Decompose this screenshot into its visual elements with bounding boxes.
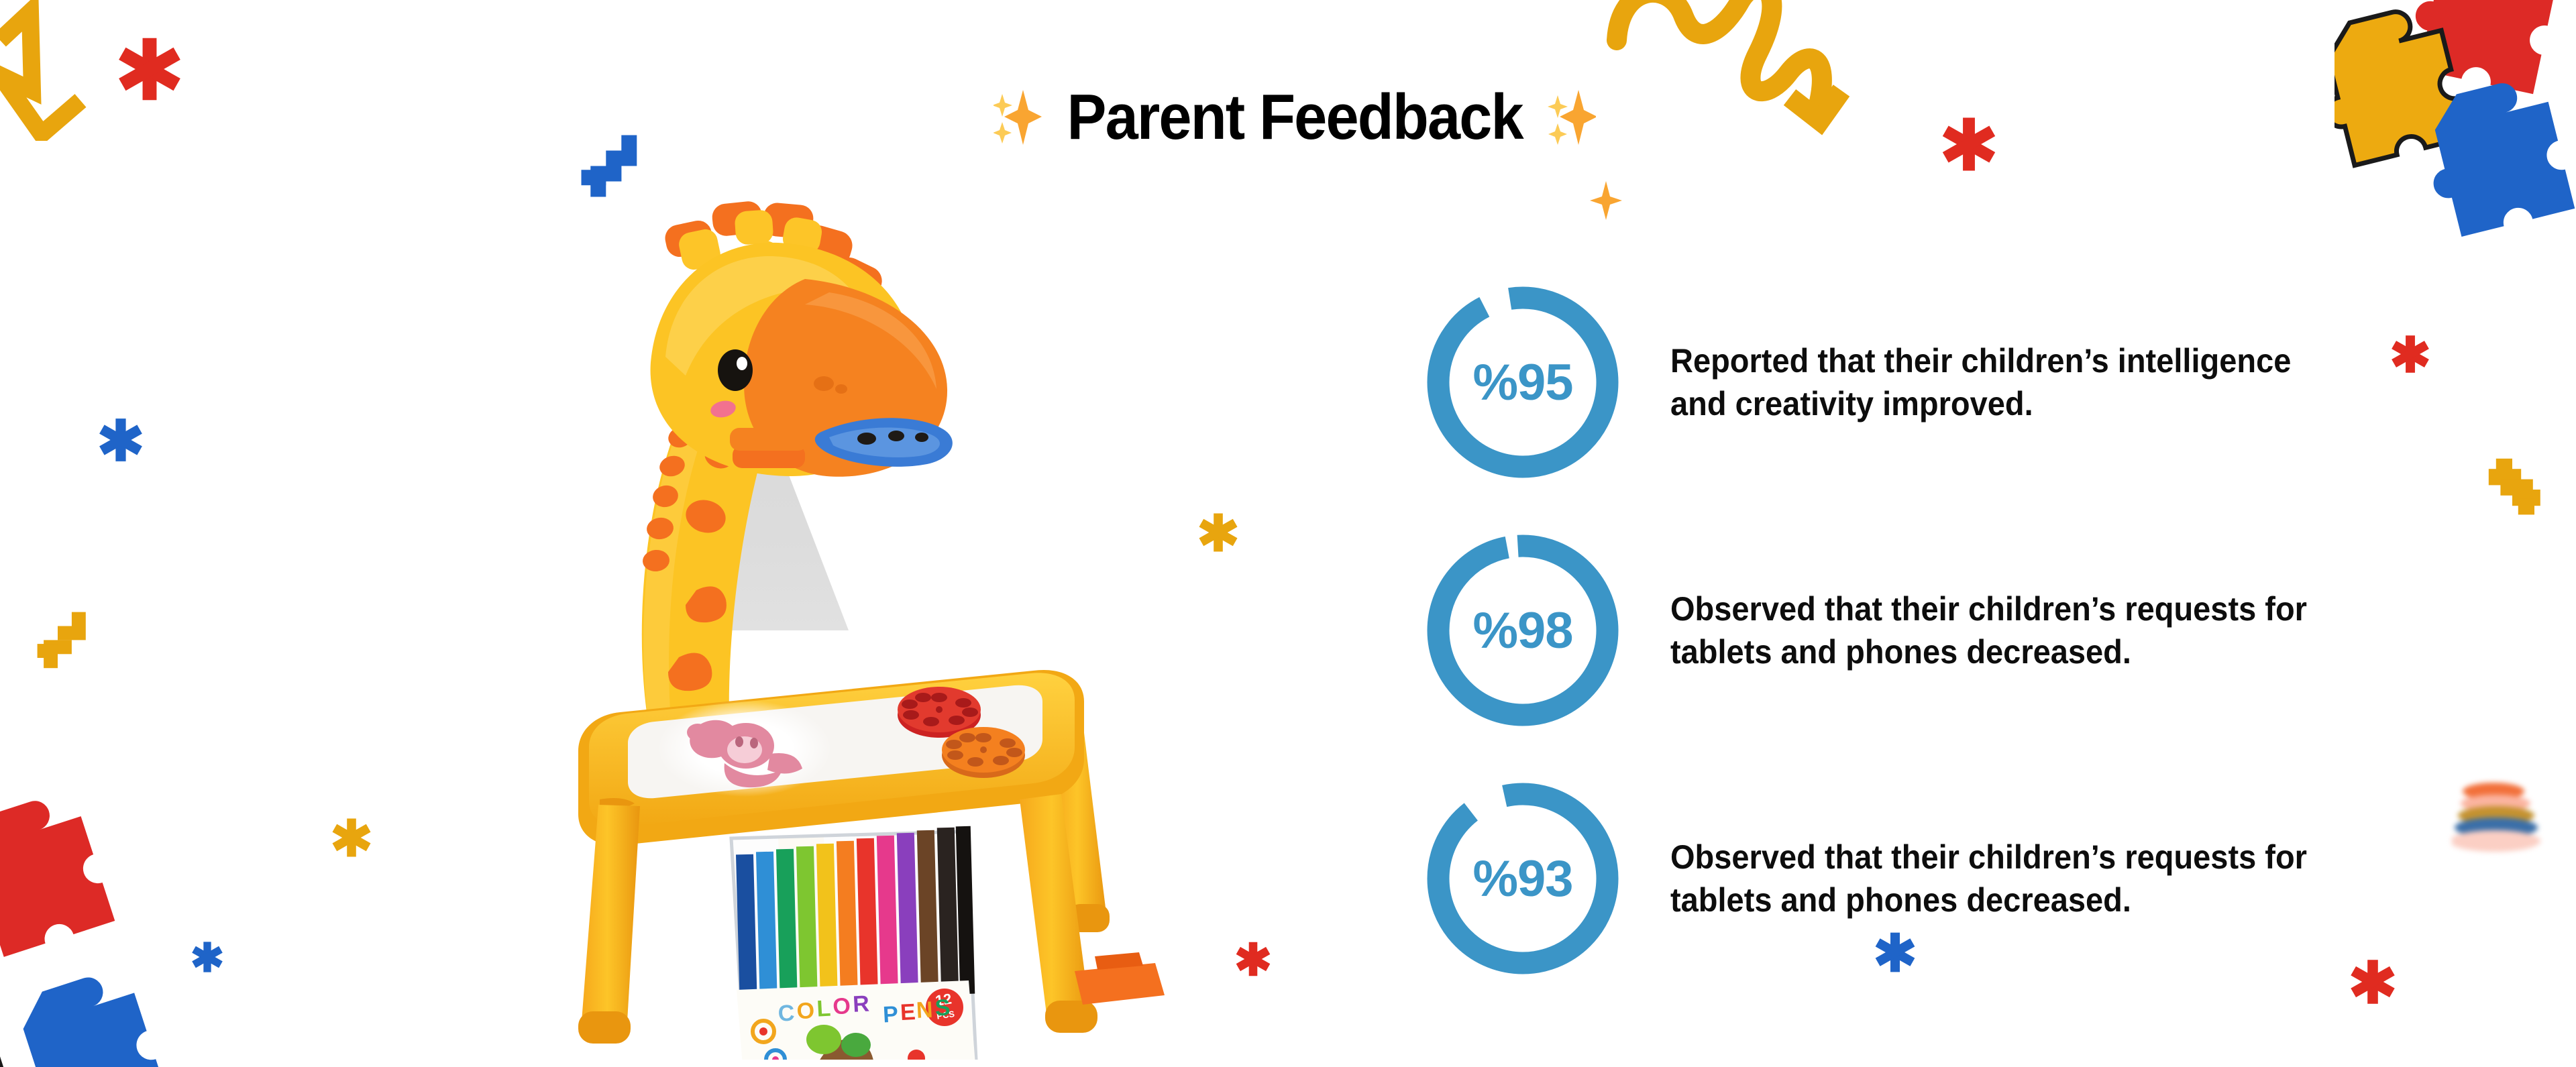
puzzle-piece-red-tr-icon (2404, 0, 2562, 94)
puzzle-cluster-top-right (2334, 0, 2576, 255)
svg-text:O: O (832, 993, 851, 1019)
svg-text:O: O (796, 998, 815, 1024)
stat-description: Reported that their children’s intellige… (1670, 339, 2332, 425)
stairstep-amber-right-icon (2475, 453, 2549, 526)
stat-percent-label: %98 (1422, 530, 1623, 731)
zigzag-arrow-amber-icon (0, 0, 107, 141)
product-image-giraffe-projector-drawing-table: 12 PCS C O L O R P E N S (429, 161, 1207, 1060)
stats-list: %95 Reported that their children’s intel… (1422, 258, 2375, 1003)
puzzle-piece-blue-tr-icon (2414, 73, 2575, 240)
svg-text:E: E (900, 999, 916, 1025)
stat-percent-label: %93 (1422, 778, 1623, 979)
title-row: Parent Feedback (926, 80, 1664, 154)
svg-text:R: R (852, 991, 870, 1017)
progress-ring-93: %93 (1422, 778, 1623, 979)
sparkles-icon-right (1546, 89, 1596, 146)
stat-row: %98 Observed that their children’s reque… (1422, 506, 2375, 754)
asterisk-red-icon (113, 32, 186, 106)
orange-accessory (1075, 952, 1165, 1005)
progress-ring-98: %98 (1422, 530, 1623, 731)
asterisk-red-right-icon (1937, 113, 2000, 176)
stat-description: Observed that their children’s requests … (1670, 587, 2332, 673)
sparkles-icon-left (994, 89, 1043, 146)
asterisk-red-far-right-icon (2388, 332, 2432, 376)
parent-feedback-banner: Parent Feedback (0, 0, 2576, 1067)
asterisk-blue-small-icon (189, 939, 225, 975)
page-title: Parent Feedback (1067, 80, 1522, 154)
film-disc-orange (942, 727, 1025, 778)
svg-text:S: S (934, 995, 951, 1021)
stat-percent-label: %95 (1422, 282, 1623, 483)
svg-text:P: P (882, 1001, 899, 1027)
svg-text:L: L (816, 996, 832, 1022)
puzzle-piece-red-icon (0, 788, 115, 961)
stairstep-amber-icon (32, 607, 96, 671)
puzzle-piece-blue-icon (0, 964, 168, 1067)
progress-ring-95: %95 (1422, 282, 1623, 483)
puzzle-piece-yellow-tr-icon (2334, 2, 2468, 169)
puzzle-cluster-bottom-left (0, 765, 262, 1067)
svg-text:N: N (916, 997, 934, 1023)
stat-row: %93 Observed that their children’s reque… (1422, 754, 2375, 1003)
stat-description: Observed that their children’s requests … (1670, 836, 2332, 921)
sparkle-amber-icon (1589, 180, 1623, 221)
asterisk-amber-icon (329, 815, 374, 860)
stacking-rings-toy-icon (2452, 779, 2553, 866)
svg-text:C: C (777, 1000, 796, 1026)
puzzle-piece-yellow-icon (0, 958, 9, 1067)
asterisk-blue-icon (95, 414, 146, 465)
asterisk-red-bottom-icon (1233, 939, 1273, 979)
projector-collar (730, 428, 808, 468)
color-pens-pack: 12 PCS C O L O R P E N S (731, 826, 978, 1060)
giraffe-eye (718, 349, 753, 391)
stat-row: %95 Reported that their children’s intel… (1422, 258, 2375, 506)
table-leg-front-left (581, 805, 640, 1033)
